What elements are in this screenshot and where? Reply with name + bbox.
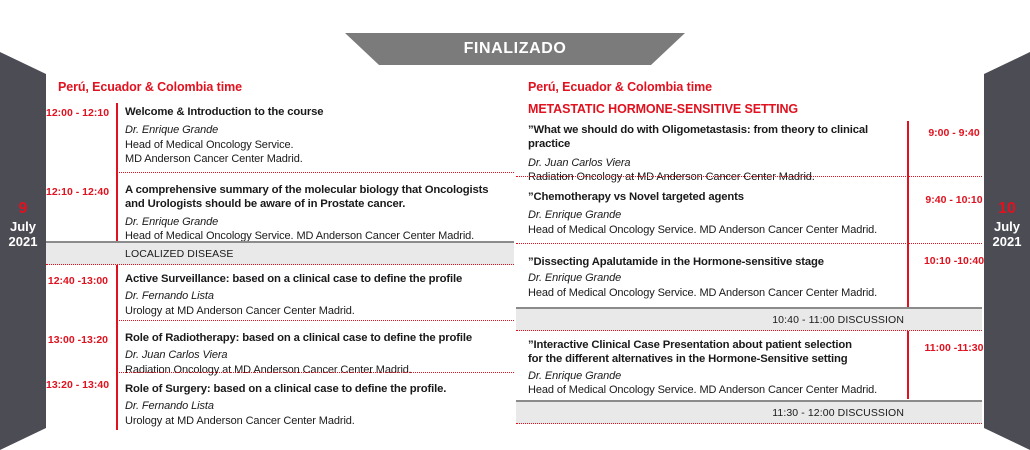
day-tab-9-july[interactable]: 9 July 2021 xyxy=(0,0,46,450)
day-tab-10-july[interactable]: 10 July 2021 xyxy=(984,0,1030,450)
agenda-row-title: Welcome & Introduction to the course xyxy=(125,105,510,119)
day-tab-number: 9 xyxy=(19,200,28,219)
row-separator xyxy=(516,423,982,424)
timezone-heading-right: Perú, Ecuador & Colombia time xyxy=(528,80,712,94)
row-separator xyxy=(516,330,982,331)
agenda-row-title: ”Interactive Clinical Case Presentation … xyxy=(528,338,900,352)
agenda-row-affiliation: Head of Medical Oncology Service. MD And… xyxy=(528,286,900,301)
agenda-row-title: ”Chemotherapy vs Novel targeted agents xyxy=(528,190,900,204)
agenda-row-affiliation: Urology at MD Anderson Cancer Center Mad… xyxy=(125,304,510,319)
status-banner-label: FINALIZADO xyxy=(464,40,567,58)
section-bar-localized-disease: LOCALIZED DISEASE xyxy=(46,241,514,265)
day-tab-month: July xyxy=(10,219,36,234)
agenda-row-time: 12:00 - 12:10 xyxy=(46,107,108,119)
agenda-row-title: A comprehensive summary of the molecular… xyxy=(125,183,510,197)
row-separator xyxy=(116,172,514,173)
timeline-rule-right-upper xyxy=(907,121,909,307)
agenda-row-time: 9:00 - 9:40 xyxy=(918,127,990,139)
agenda-page: FINALIZADO 9 July 2021 10 July 2021 Perú… xyxy=(0,0,1030,450)
agenda-row-title-2: for the different alternatives in the Ho… xyxy=(528,352,900,366)
day-tab-year: 2021 xyxy=(9,234,38,249)
row-separator xyxy=(46,264,514,265)
agenda-row-title: Role of Surgery: based on a clinical cas… xyxy=(125,382,510,396)
timeline-rule-right-lower xyxy=(907,331,909,399)
agenda-row-title: Active Surveillance: based on a clinical… xyxy=(125,272,510,286)
agenda-row-speaker: Dr. Fernando Lista xyxy=(125,289,510,303)
agenda-row-time: 10:10 -10:40 xyxy=(918,255,990,267)
agenda-row-time: 12:40 -13:00 xyxy=(46,275,108,287)
row-separator xyxy=(516,176,982,177)
timezone-heading-left: Perú, Ecuador & Colombia time xyxy=(58,80,242,94)
discussion-bar-label: 10:40 - 11:00 DISCUSSION xyxy=(772,314,904,326)
discussion-bar-label: 11:30 - 12:00 DISCUSSION xyxy=(772,407,904,419)
agenda-row-title-2: and Urologists should be aware of in Pro… xyxy=(125,197,510,211)
section-heading-metastatic: METASTATIC HORMONE-SENSITIVE SETTING xyxy=(528,102,798,116)
agenda-row-speaker: Dr. Juan Carlos Viera xyxy=(125,348,510,362)
agenda-row-affiliation-2: MD Anderson Cancer Center Madrid. xyxy=(125,152,510,167)
agenda-row-speaker: Dr. Enrique Grande xyxy=(528,208,900,222)
agenda-row-speaker: Dr. Fernando Lista xyxy=(125,399,510,413)
agenda-row-speaker: Dr. Enrique Grande xyxy=(528,271,900,285)
agenda-row-time: 13:20 - 13:40 xyxy=(46,379,108,391)
agenda-row-speaker: Dr. Juan Carlos Viera xyxy=(528,156,900,170)
agenda-row-affiliation: Head of Medical Oncology Service. xyxy=(125,138,510,153)
agenda-row-time: 11:00 -11:30 xyxy=(918,342,990,354)
agenda-row-speaker: Dr. Enrique Grande xyxy=(528,369,900,383)
discussion-bar-1: 10:40 - 11:00 DISCUSSION xyxy=(516,307,982,331)
day-tab-year: 2021 xyxy=(993,234,1022,249)
agenda-row-affiliation: Head of Medical Oncology Service. MD And… xyxy=(528,223,900,238)
agenda-row-title: Role of Radiotherapy: based on a clinica… xyxy=(125,331,510,345)
agenda-row-affiliation: Head of Medical Oncology Service. MD And… xyxy=(528,383,900,398)
discussion-bar-2: 11:30 - 12:00 DISCUSSION xyxy=(516,400,982,424)
agenda-row-time: 12:10 - 12:40 xyxy=(46,186,108,198)
agenda-row-title: ”What we should do with Oligometastasis:… xyxy=(528,123,900,152)
row-separator xyxy=(116,320,514,321)
agenda-row-speaker: Dr. Enrique Grande xyxy=(125,123,510,137)
agenda-row-title: ”Dissecting Apalutamide in the Hormone-s… xyxy=(528,255,900,269)
agenda-row-affiliation: Radiation Oncology at MD Anderson Cancer… xyxy=(528,170,900,185)
day-tab-number: 10 xyxy=(998,200,1016,219)
timeline-rule-left-lower xyxy=(116,265,118,430)
day-tab-month: July xyxy=(994,219,1020,234)
agenda-row-time: 9:40 - 10:10 xyxy=(918,194,990,206)
agenda-row-affiliation: Radiation Oncology at MD Anderson Cancer… xyxy=(125,363,510,378)
status-banner: FINALIZADO xyxy=(345,33,685,65)
row-separator xyxy=(516,243,982,244)
agenda-row-time: 13:00 -13:20 xyxy=(46,334,108,346)
row-separator xyxy=(116,372,514,373)
section-bar-label: LOCALIZED DISEASE xyxy=(125,248,233,260)
agenda-row-affiliation: Urology at MD Anderson Cancer Center Mad… xyxy=(125,414,510,429)
agenda-row-speaker: Dr. Enrique Grande xyxy=(125,215,510,229)
